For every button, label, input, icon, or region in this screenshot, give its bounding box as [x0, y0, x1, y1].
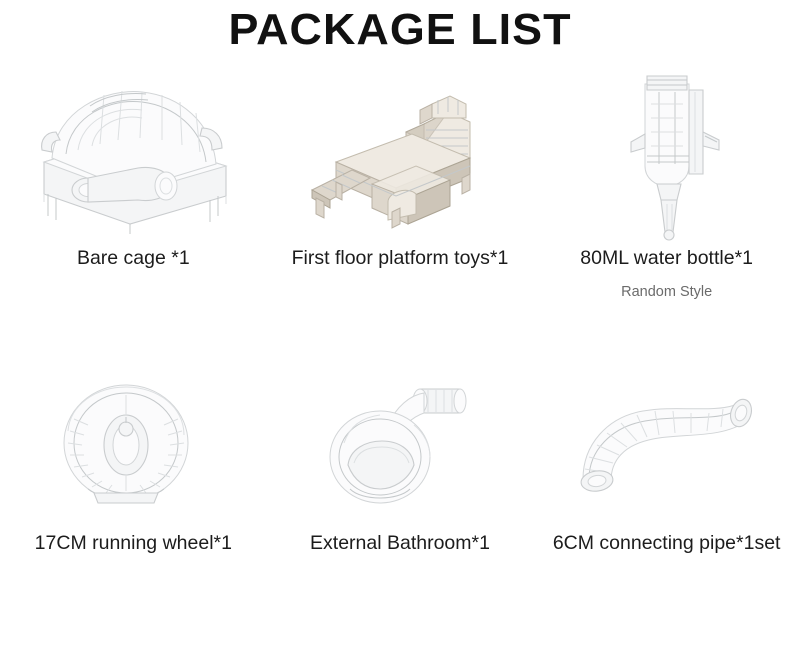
package-item-running-wheel: 17CM running wheel*1 [0, 356, 267, 656]
cage-icon [0, 56, 267, 246]
package-item-bare-cage: Bare cage *1 [0, 56, 267, 356]
package-item-water-bottle: 80ML water bottle*1 Random Style [533, 56, 800, 356]
running-wheel-icon [0, 356, 267, 531]
platform-toys-icon [267, 56, 534, 246]
package-item-caption: First floor platform toys*1 [292, 246, 509, 270]
package-item-connecting-pipe: 6CM connecting pipe*1set [533, 356, 800, 656]
package-items-grid: Bare cage *1 [0, 56, 800, 656]
package-item-caption: Bare cage *1 [77, 246, 190, 270]
connecting-pipe-icon [533, 356, 800, 531]
page-title: PACKAGE LIST [0, 0, 800, 56]
package-item-note: Random Style [621, 284, 712, 300]
package-item-caption: 17CM running wheel*1 [35, 531, 232, 555]
water-bottle-icon [533, 56, 800, 246]
package-item-caption: External Bathroom*1 [310, 531, 490, 555]
package-item-platform-toys: First floor platform toys*1 [267, 56, 534, 356]
package-item-caption: 80ML water bottle*1 [580, 246, 753, 270]
package-item-bathroom: External Bathroom*1 [267, 356, 534, 656]
package-item-caption: 6CM connecting pipe*1set [553, 531, 781, 555]
bathroom-icon [267, 356, 534, 531]
package-list-page: PACKAGE LIST [0, 0, 800, 667]
